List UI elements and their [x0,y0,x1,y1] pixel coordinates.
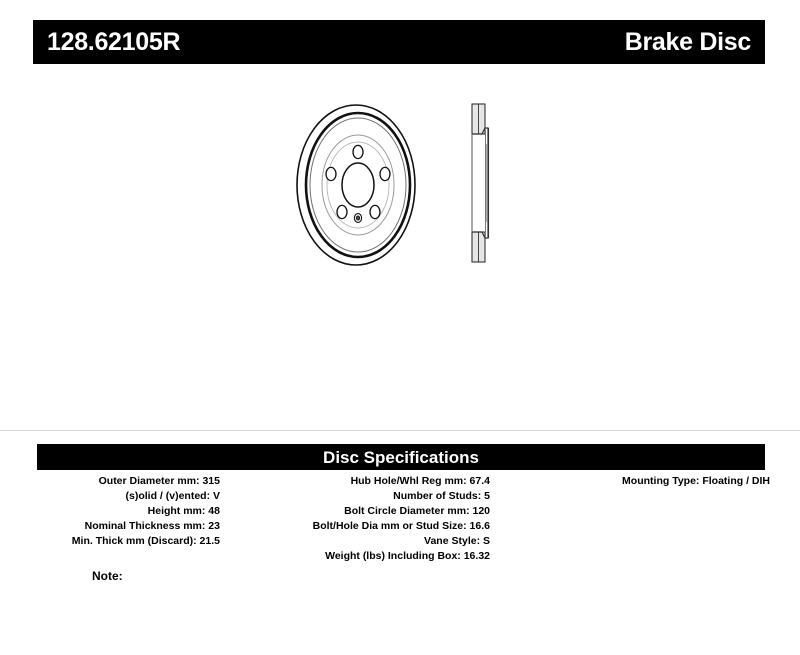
spec-row: Number of Studs: 5 [240,489,490,504]
spec-column-left: Outer Diameter mm: 315 (s)olid / (v)ente… [30,474,220,549]
spec-row: Outer Diameter mm: 315 [30,474,220,489]
note-label: Note: [92,569,123,583]
spec-row: Bolt Circle Diameter mm: 120 [240,504,490,519]
spec-column-middle: Hub Hole/Whl Reg mm: 67.4 Number of Stud… [240,474,490,564]
spec-row: Weight (lbs) Including Box: 16.32 [240,549,490,564]
section-divider [0,430,800,431]
document-title: Brake Disc [625,30,751,55]
disc-specifications-bar: Disc Specifications [37,444,765,470]
brake-disc-cross-section-view [458,98,518,273]
technical-drawing-area [0,80,800,410]
document-header-bar: 128.62105R Brake Disc [33,20,765,64]
spec-row: Hub Hole/Whl Reg mm: 67.4 [240,474,490,489]
note-row: Note: [92,570,326,582]
part-number: 128.62105R [47,30,180,55]
spec-row: Nominal Thickness mm: 23 [30,519,220,534]
spec-row: Bolt/Hole Dia mm or Stud Size: 16.6 [240,519,490,534]
spec-row: (s)olid / (v)ented: V [30,489,220,504]
brake-disc-face-view [288,102,424,273]
spec-row: Min. Thick mm (Discard): 21.5 [30,534,220,549]
spec-row: Mounting Type: Floating / DIH [520,474,770,489]
spec-row: Height mm: 48 [30,504,220,519]
spec-column-right: Mounting Type: Floating / DIH [520,474,770,489]
disc-specifications-title: Disc Specifications [323,449,479,466]
spec-row: Vane Style: S [240,534,490,549]
